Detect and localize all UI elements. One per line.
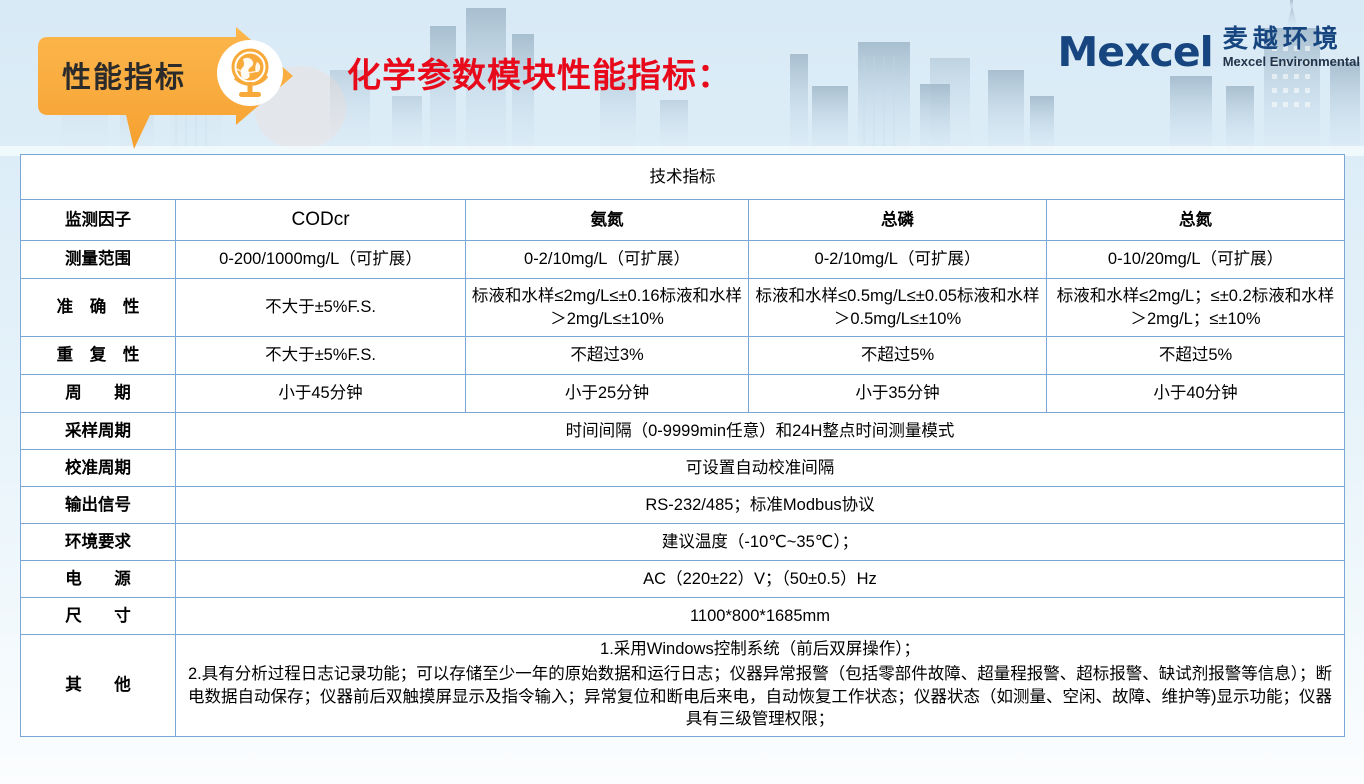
other-line-2: 2.具有分析过程日志记录功能；可以存储至少一年的原始数据和运行日志；仪器异常报警… xyxy=(180,663,1340,731)
logo-english-name: Mexcel Environmental xyxy=(1223,54,1360,71)
row-label-cycle: 周 期 xyxy=(21,375,176,413)
column-header-ammonia: 氨氮 xyxy=(466,200,749,241)
table-row: 其 他 1.采用Windows控制系统（前后双屏操作）； 2.具有分析过程日志记… xyxy=(21,635,1345,737)
table-row: 采样周期 时间间隔（0-9999min任意）和24H整点时间测量模式 xyxy=(21,413,1345,450)
table-row: 输出信号 RS-232/485；标准Modbus协议 xyxy=(21,487,1345,524)
cell-repeat-tn: 不超过5% xyxy=(1047,337,1345,375)
cell-accuracy-codcr: 不大于±5%F.S. xyxy=(176,279,466,337)
table-header-row: 监测因子 CODcr 氨氮 总磷 总氮 xyxy=(21,200,1345,241)
row-label-repeatability: 重 复 性 xyxy=(21,337,176,375)
cell-repeat-tp: 不超过5% xyxy=(749,337,1047,375)
row-label-dimensions: 尺 寸 xyxy=(21,598,176,635)
cell-accuracy-ammonia: 标液和水样≤2mg/L≤±0.16标液和水样＞2mg/L≤±10% xyxy=(466,279,749,337)
company-logo: Mexcel 麦越环境 Mexcel Environmental xyxy=(1058,26,1361,70)
cell-range-codcr: 0-200/1000mg/L（可扩展） xyxy=(176,241,466,279)
cell-power: AC（220±22）V；（50±0.5）Hz xyxy=(176,561,1345,598)
cell-calibration-cycle: 可设置自动校准间隔 xyxy=(176,450,1345,487)
cell-cycle-codcr: 小于45分钟 xyxy=(176,375,466,413)
cell-cycle-tn: 小于40分钟 xyxy=(1047,375,1345,413)
cell-accuracy-tp: 标液和水样≤0.5mg/L≤±0.05标液和水样＞0.5mg/L≤±10% xyxy=(749,279,1047,337)
row-label-output-signal: 输出信号 xyxy=(21,487,176,524)
table-row: 电 源 AC（220±22）V；（50±0.5）Hz xyxy=(21,561,1345,598)
column-header-total-nitrogen: 总氮 xyxy=(1047,200,1345,241)
row-label-range: 测量范围 xyxy=(21,241,176,279)
cell-dimensions: 1100*800*1685mm xyxy=(176,598,1345,635)
table-row: 测量范围 0-200/1000mg/L（可扩展） 0-2/10mg/L（可扩展）… xyxy=(21,241,1345,279)
column-header-factor: 监测因子 xyxy=(21,200,176,241)
column-header-total-phosphorus: 总磷 xyxy=(749,200,1047,241)
spec-table-container: 技术指标 监测因子 CODcr 氨氮 总磷 总氮 测量范围 0-200/1000… xyxy=(20,154,1344,737)
cell-cycle-ammonia: 小于25分钟 xyxy=(466,375,749,413)
cell-sampling-cycle: 时间间隔（0-9999min任意）和24H整点时间测量模式 xyxy=(176,413,1345,450)
logo-wordmark: Mexcel xyxy=(1058,33,1213,72)
table-row: 尺 寸 1100*800*1685mm xyxy=(21,598,1345,635)
globe-icon xyxy=(217,40,283,106)
column-header-codcr: CODcr xyxy=(176,200,466,241)
table-title-row: 技术指标 xyxy=(21,155,1345,200)
row-label-calibration-cycle: 校准周期 xyxy=(21,450,176,487)
table-row: 环境要求 建议温度（-10℃~35℃）； xyxy=(21,524,1345,561)
cell-repeat-ammonia: 不超过3% xyxy=(466,337,749,375)
table-row: 准 确 性 不大于±5%F.S. 标液和水样≤2mg/L≤±0.16标液和水样＞… xyxy=(21,279,1345,337)
table-title: 技术指标 xyxy=(21,155,1345,200)
row-label-power: 电 源 xyxy=(21,561,176,598)
table-row: 重 复 性 不大于±5%F.S. 不超过3% 不超过5% 不超过5% xyxy=(21,337,1345,375)
other-line-1: 1.采用Windows控制系统（前后双屏操作）； xyxy=(180,638,1340,661)
technical-spec-table: 技术指标 监测因子 CODcr 氨氮 总磷 总氮 测量范围 0-200/1000… xyxy=(20,154,1345,737)
cell-other: 1.采用Windows控制系统（前后双屏操作）； 2.具有分析过程日志记录功能；… xyxy=(176,635,1345,737)
logo-chinese-name: 麦越环境 xyxy=(1223,26,1360,54)
row-label-sampling-cycle: 采样周期 xyxy=(21,413,176,450)
cell-repeat-codcr: 不大于±5%F.S. xyxy=(176,337,466,375)
row-label-accuracy: 准 确 性 xyxy=(21,279,176,337)
cell-range-ammonia: 0-2/10mg/L（可扩展） xyxy=(466,241,749,279)
cell-accuracy-tn: 标液和水样≤2mg/L；≤±0.2标液和水样＞2mg/L；≤±10% xyxy=(1047,279,1345,337)
callout-label: 性能指标 xyxy=(62,54,186,96)
row-label-environment: 环境要求 xyxy=(21,524,176,561)
table-row: 周 期 小于45分钟 小于25分钟 小于35分钟 小于40分钟 xyxy=(21,375,1345,413)
cell-range-tn: 0-10/20mg/L（可扩展） xyxy=(1047,241,1345,279)
page-header: 性能指标 化学参数模块性能指标： Mexcel 麦越环境 Mexcel Envi… xyxy=(0,0,1364,150)
cell-cycle-tp: 小于35分钟 xyxy=(749,375,1047,413)
cell-output-signal: RS-232/485；标准Modbus协议 xyxy=(176,487,1345,524)
page-title: 化学参数模块性能指标： xyxy=(347,48,732,97)
cell-environment: 建议温度（-10℃~35℃）； xyxy=(176,524,1345,561)
cell-range-tp: 0-2/10mg/L（可扩展） xyxy=(749,241,1047,279)
row-label-other: 其 他 xyxy=(21,635,176,737)
table-row: 校准周期 可设置自动校准间隔 xyxy=(21,450,1345,487)
